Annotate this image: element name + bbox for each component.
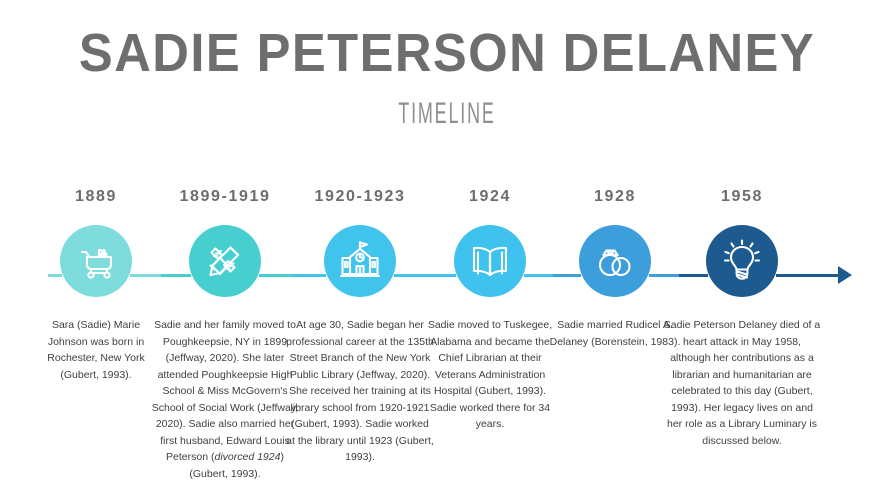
timeline: 1889 Sara (Sadie) Marie Johnson was born… xyxy=(0,186,894,502)
baby-stroller-icon[interactable] xyxy=(60,225,132,297)
event-year: 1899-1919 xyxy=(150,186,300,208)
lightbulb-icon[interactable] xyxy=(706,225,778,297)
arrow-right-icon xyxy=(838,266,852,284)
event-description: Sadie moved to Tuskegee, Alabama and bec… xyxy=(425,317,555,433)
timeline-event: 1924 Sadie moved to Tuskegee, Alabama an… xyxy=(425,186,555,433)
event-description: At age 30, Sadie began her professional … xyxy=(286,317,434,466)
event-year: 1920-1923 xyxy=(286,186,434,208)
open-book-icon[interactable] xyxy=(454,225,526,297)
event-year: 1889 xyxy=(32,186,160,208)
wedding-rings-icon[interactable] xyxy=(579,225,651,297)
timeline-event: 1889 Sara (Sadie) Marie Johnson was born… xyxy=(32,186,160,383)
event-marker[interactable] xyxy=(286,225,434,301)
event-marker[interactable] xyxy=(150,225,300,301)
page-subtitle: TIMELINE xyxy=(179,97,715,131)
page-title: SADIE PETERSON DELANEY xyxy=(27,26,867,81)
header: SADIE PETERSON DELANEY TIMELINE xyxy=(0,0,894,131)
pencil-ruler-icon[interactable] xyxy=(189,225,261,297)
event-year: 1924 xyxy=(425,186,555,208)
timeline-event: 1920-1923 At age 30, Sadie began her pro… xyxy=(286,186,434,466)
event-marker[interactable] xyxy=(32,225,160,301)
event-description: Sadie and her family moved to Poughkeeps… xyxy=(150,317,300,482)
event-marker[interactable] xyxy=(663,225,821,301)
event-description: Sadie Peterson Delaney died of a heart a… xyxy=(663,317,821,449)
timeline-event: 1899-1919 Sadie and her family moved to … xyxy=(150,186,300,482)
school-building-icon[interactable] xyxy=(324,225,396,297)
timeline-event: 1958 Sadie Peterson Delaney died of a he… xyxy=(663,186,821,449)
event-year: 1958 xyxy=(663,186,821,208)
event-description: Sara (Sadie) Marie Johnson was born in R… xyxy=(32,317,160,383)
event-marker[interactable] xyxy=(425,225,555,301)
